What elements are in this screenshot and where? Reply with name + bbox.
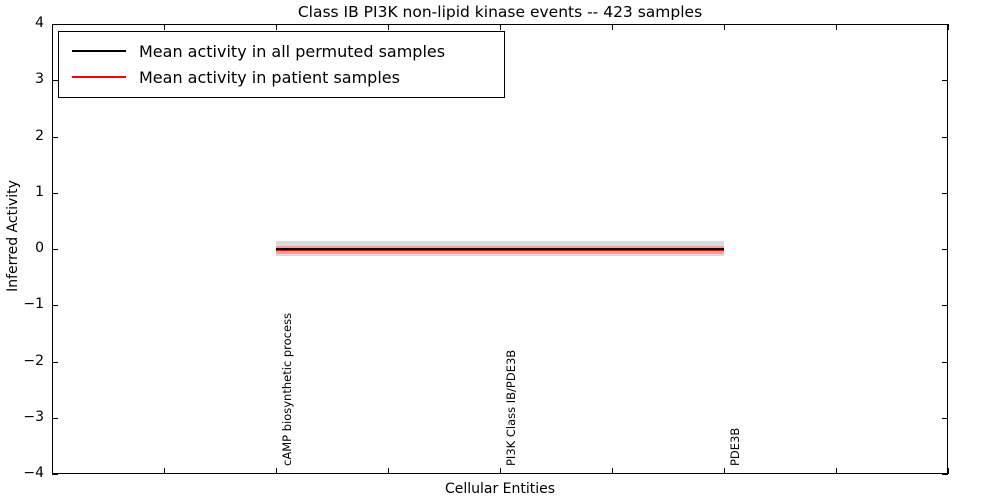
legend-item-patient: Mean activity in patient samples — [59, 64, 504, 90]
y-tick-label: −4 — [0, 465, 44, 481]
legend-item-label: Mean activity in all permuted samples — [139, 42, 445, 61]
tick-mark — [388, 468, 389, 474]
tick-mark — [276, 24, 277, 30]
tick-mark — [52, 249, 58, 250]
tick-mark — [948, 468, 949, 474]
page-title: Class IB PI3K non-lipid kinase events --… — [52, 2, 948, 22]
tick-mark — [948, 24, 949, 30]
tick-mark — [52, 418, 58, 419]
figure-canvas: Class IB PI3K non-lipid kinase events --… — [0, 0, 1000, 500]
tick-mark — [612, 468, 613, 474]
tick-mark — [276, 468, 277, 474]
tick-mark — [942, 137, 948, 138]
legend: Mean activity in all permuted samples Me… — [58, 31, 505, 98]
tick-mark — [942, 80, 948, 81]
tick-mark — [52, 305, 58, 306]
y-tick-label: −1 — [0, 296, 44, 312]
tick-mark — [942, 362, 948, 363]
tick-mark — [164, 24, 165, 30]
legend-item-label: Mean activity in patient samples — [139, 68, 400, 87]
tick-mark — [612, 24, 613, 30]
tick-mark — [942, 418, 948, 419]
tick-mark — [388, 24, 389, 30]
y-tick-label: 1 — [0, 184, 44, 200]
tick-mark — [164, 468, 165, 474]
tick-mark — [52, 193, 58, 194]
y-tick-label: 3 — [0, 71, 44, 87]
y-tick-label: 4 — [0, 15, 44, 31]
tick-mark — [942, 305, 948, 306]
tick-mark — [52, 474, 58, 475]
x-tick-label: PI3K Class IB/PDE3B — [504, 350, 518, 466]
x-tick-label: PDE3B — [728, 428, 742, 466]
tick-mark — [500, 24, 501, 30]
x-tick-label: cAMP biosynthetic process — [280, 313, 294, 466]
tick-mark — [52, 24, 53, 30]
tick-mark — [836, 24, 837, 30]
tick-mark — [52, 468, 53, 474]
tick-mark — [942, 193, 948, 194]
tick-mark — [724, 24, 725, 30]
line-swatch-red-icon — [72, 76, 126, 78]
y-tick-label: −3 — [0, 409, 44, 425]
y-tick-label: 0 — [0, 240, 44, 256]
tick-mark — [942, 474, 948, 475]
line-swatch-black-icon — [72, 50, 126, 52]
tick-mark — [942, 249, 948, 250]
tick-mark — [52, 362, 58, 363]
tick-mark — [836, 468, 837, 474]
tick-mark — [500, 468, 501, 474]
x-axis-label: Cellular Entities — [52, 481, 948, 497]
y-tick-label: −2 — [0, 353, 44, 369]
tick-mark — [52, 137, 58, 138]
y-tick-label: 2 — [0, 128, 44, 144]
tick-mark — [724, 468, 725, 474]
legend-item-permuted: Mean activity in all permuted samples — [59, 38, 504, 64]
